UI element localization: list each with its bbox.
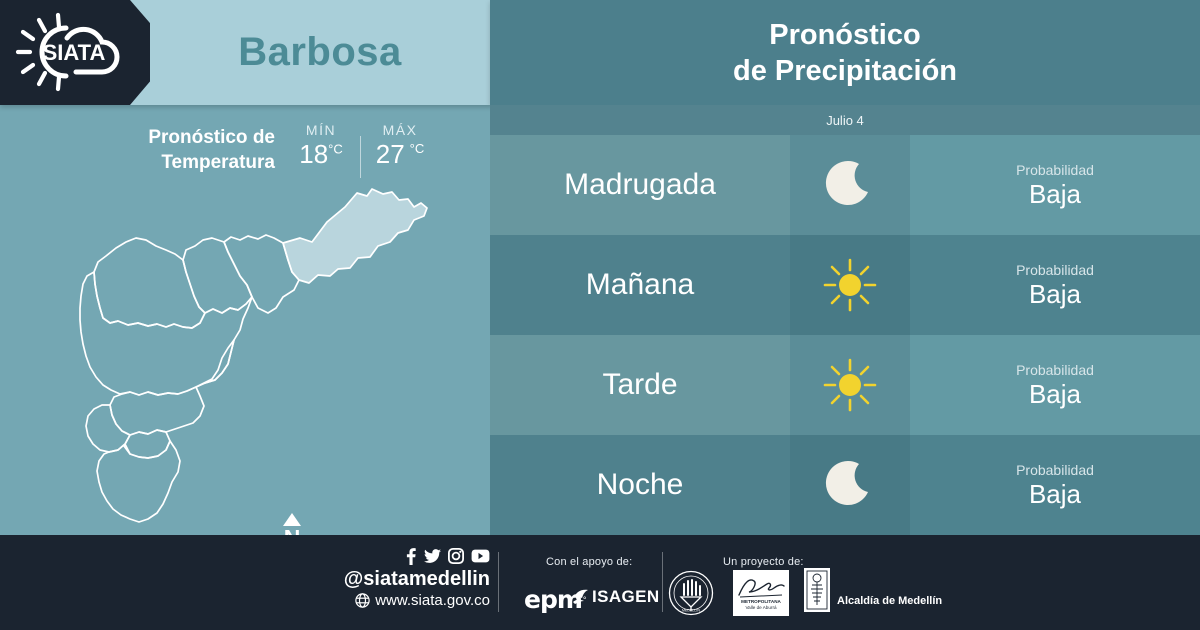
period-cell: Noche bbox=[490, 435, 790, 535]
period-label: Madrugada bbox=[564, 168, 716, 202]
max-label: MÁX bbox=[383, 122, 418, 138]
area-metropolitana-logo: METROPOLITANA Valle de Aburrá bbox=[733, 570, 789, 616]
left-panel: SIATA Barbosa Pronóstico de Temperatura … bbox=[0, 0, 490, 535]
map-region-barbosa bbox=[283, 189, 427, 283]
map-region-caldas bbox=[97, 441, 180, 522]
forecast-table: Madrugada Probabilidad Baja Mañana bbox=[490, 135, 1200, 535]
weather-icon-cell bbox=[790, 235, 910, 335]
probability-cell: Probabilidad Baja bbox=[910, 335, 1200, 435]
probability-cell: Probabilidad Baja bbox=[910, 435, 1200, 535]
period-label: Mañana bbox=[586, 268, 694, 302]
footer-separator-2 bbox=[662, 552, 663, 612]
temperature-block: Pronóstico de Temperatura MÍN 18°C MÁX 2… bbox=[0, 105, 490, 185]
probability-cell: Probabilidad Baja bbox=[910, 235, 1200, 335]
weather-icon-cell bbox=[790, 335, 910, 435]
area-script-icon bbox=[736, 575, 786, 599]
unal-seal-icon: MEDELLÍN bbox=[668, 570, 714, 616]
sun-icon bbox=[821, 256, 879, 314]
sun-icon bbox=[821, 356, 879, 414]
precipitation-title-line1: Pronóstico bbox=[769, 19, 920, 51]
aburra-valley-map: N bbox=[0, 180, 490, 535]
isagen-mark-icon bbox=[572, 589, 590, 605]
precipitation-title: Pronóstico de Precipitación bbox=[733, 17, 957, 89]
isagen-wordmark: ISAGEN bbox=[592, 587, 660, 607]
precipitation-header: Pronóstico de Precipitación bbox=[490, 0, 1200, 105]
sun-cloud-icon: SIATA bbox=[14, 12, 134, 92]
facebook-icon[interactable] bbox=[405, 548, 417, 565]
temperature-max: MÁX 27°C bbox=[361, 122, 439, 170]
social-handle[interactable]: @siatamedellin bbox=[330, 567, 490, 591]
social-icons bbox=[330, 547, 490, 565]
temperature-title: Pronóstico de Temperatura bbox=[60, 125, 275, 175]
probability-cell: Probabilidad Baja bbox=[910, 135, 1200, 235]
website-url[interactable]: www.siata.gov.co bbox=[375, 591, 490, 610]
social-group: @siatamedellin www.siata.gov.co bbox=[330, 547, 490, 610]
map-region-copacabana bbox=[183, 238, 252, 313]
period-cell: Mañana bbox=[490, 235, 790, 335]
precipitation-panel: Pronóstico de Precipitación Julio 4 Madr… bbox=[490, 0, 1200, 535]
support-caption: Con el apoyo de: bbox=[546, 556, 632, 568]
north-indicator: N bbox=[277, 513, 307, 535]
map-region-itagui bbox=[110, 387, 204, 435]
map-region-envigado bbox=[196, 340, 234, 387]
period-label: Tarde bbox=[602, 368, 677, 402]
moon-icon bbox=[821, 156, 879, 214]
map-region-medellin bbox=[80, 272, 252, 395]
min-reading: 18°C bbox=[299, 139, 343, 170]
map-region-bello bbox=[94, 238, 205, 328]
isagen-logo: ISAGEN bbox=[572, 587, 660, 607]
probability-caption: Probabilidad bbox=[1016, 261, 1094, 279]
unal-seal-logo: MEDELLÍN bbox=[668, 570, 714, 616]
max-value: 27 bbox=[376, 139, 405, 169]
table-row: Tarde bbox=[490, 335, 1200, 435]
temperature-min: MÍN 18°C bbox=[282, 122, 360, 170]
footer-bar: @siatamedellin www.siata.gov.co Con el a… bbox=[0, 535, 1200, 630]
probability-value: Baja bbox=[1029, 479, 1081, 509]
area-line3: Valle de Aburrá bbox=[745, 605, 776, 611]
precipitation-title-line2: de Precipitación bbox=[733, 55, 957, 87]
probability-caption: Probabilidad bbox=[1016, 461, 1094, 479]
period-label: Noche bbox=[597, 468, 684, 502]
table-row: Madrugada Probabilidad Baja bbox=[490, 135, 1200, 235]
forecast-date: Julio 4 bbox=[826, 113, 864, 128]
alcaldia-label: Alcaldía de Medellín bbox=[837, 595, 942, 607]
moon-icon bbox=[821, 456, 879, 514]
alcaldia-crest-icon bbox=[803, 567, 831, 613]
north-letter: N bbox=[277, 526, 307, 535]
siata-logo-text: SIATA bbox=[43, 40, 106, 65]
max-reading: 27°C bbox=[376, 139, 425, 170]
twitter-icon[interactable] bbox=[424, 549, 441, 564]
probability-value: Baja bbox=[1029, 379, 1081, 409]
temperature-title-line1: Pronóstico de bbox=[148, 127, 275, 148]
min-value: 18 bbox=[299, 139, 328, 169]
globe-icon bbox=[355, 593, 370, 608]
probability-caption: Probabilidad bbox=[1016, 361, 1094, 379]
siata-logo-badge: SIATA bbox=[0, 0, 150, 105]
temperature-title-line2: Temperatura bbox=[161, 152, 275, 173]
temperature-values: MÍN 18°C MÁX 27°C bbox=[282, 122, 439, 178]
alcaldia-logo: Alcaldía de Medellín bbox=[803, 567, 942, 613]
website-line[interactable]: www.siata.gov.co bbox=[330, 591, 490, 610]
footer-separator-1 bbox=[498, 552, 499, 612]
instagram-icon[interactable] bbox=[448, 548, 464, 564]
probability-caption: Probabilidad bbox=[1016, 161, 1094, 179]
period-cell: Tarde bbox=[490, 335, 790, 435]
probability-value: Baja bbox=[1029, 179, 1081, 209]
min-unit: °C bbox=[328, 141, 343, 156]
weather-icon-cell bbox=[790, 135, 910, 235]
min-label: MÍN bbox=[306, 122, 336, 138]
table-row: Mañana bbox=[490, 235, 1200, 335]
unal-seal-text: MEDELLÍN bbox=[682, 609, 700, 613]
forecast-date-bar: Julio 4 bbox=[490, 105, 1200, 135]
weather-forecast-card: SIATA Barbosa Pronóstico de Temperatura … bbox=[0, 0, 1200, 630]
youtube-icon[interactable] bbox=[471, 549, 490, 563]
weather-icon-cell bbox=[790, 435, 910, 535]
map-svg bbox=[0, 180, 490, 535]
max-unit: °C bbox=[410, 141, 425, 156]
probability-value: Baja bbox=[1029, 279, 1081, 309]
project-caption: Un proyecto de: bbox=[723, 556, 804, 568]
city-title: Barbosa bbox=[150, 0, 490, 105]
left-header-bar: SIATA Barbosa bbox=[0, 0, 490, 105]
table-row: Noche Probabilidad Baja bbox=[490, 435, 1200, 535]
period-cell: Madrugada bbox=[490, 135, 790, 235]
